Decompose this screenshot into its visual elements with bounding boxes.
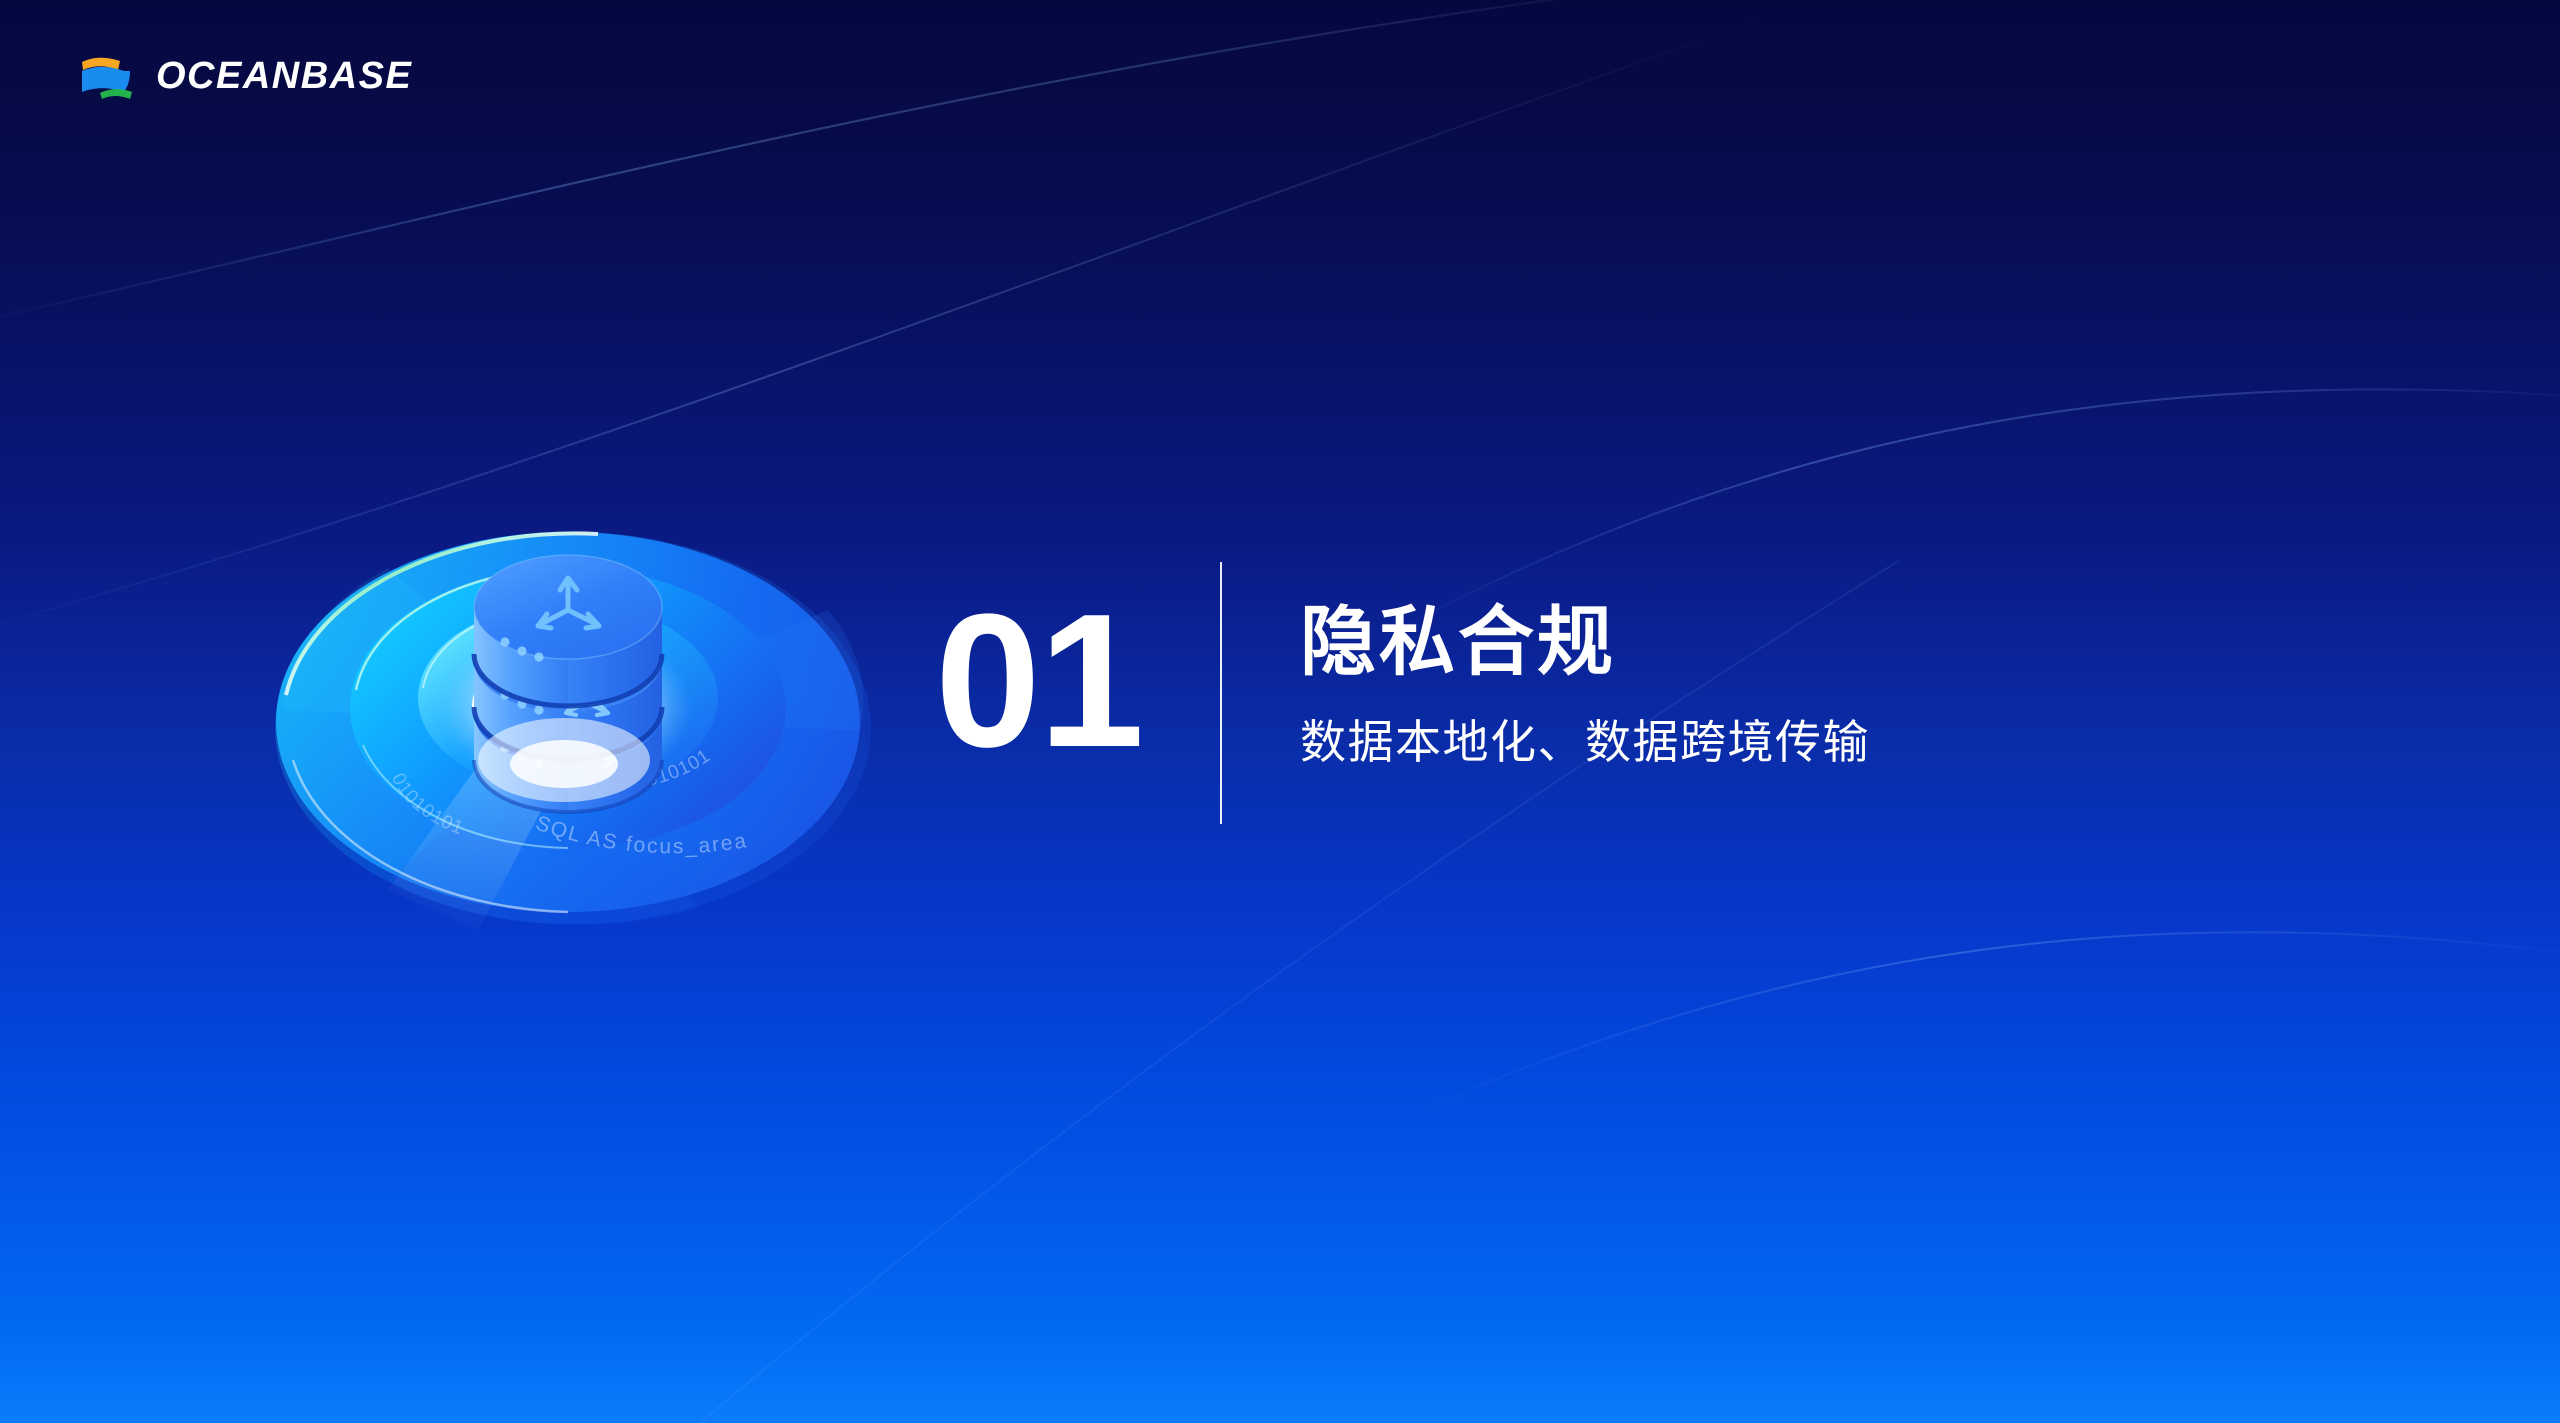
database-cluster-illustration: SQL AS focus_area 010101010101 01010101 — [268, 460, 908, 950]
oceanbase-wordmark: OCEANBASE — [156, 57, 412, 95]
oceanbase-logo: OCEANBASE — [78, 52, 412, 100]
oceanbase-logo-mark — [78, 52, 140, 100]
section-title: 隐私合规 — [1300, 600, 2200, 685]
database-illustration-svg: SQL AS focus_area 010101010101 01010101 — [268, 460, 908, 950]
vertical-divider — [1220, 562, 1222, 824]
section-text-block: 隐私合规 数据本地化、数据跨境传输 — [1300, 600, 2200, 773]
section-number: 01 — [935, 586, 1142, 776]
section-subtitle: 数据本地化、数据跨境传输 — [1300, 713, 2200, 773]
slide-canvas: OCEANBASE — [0, 0, 2560, 1423]
